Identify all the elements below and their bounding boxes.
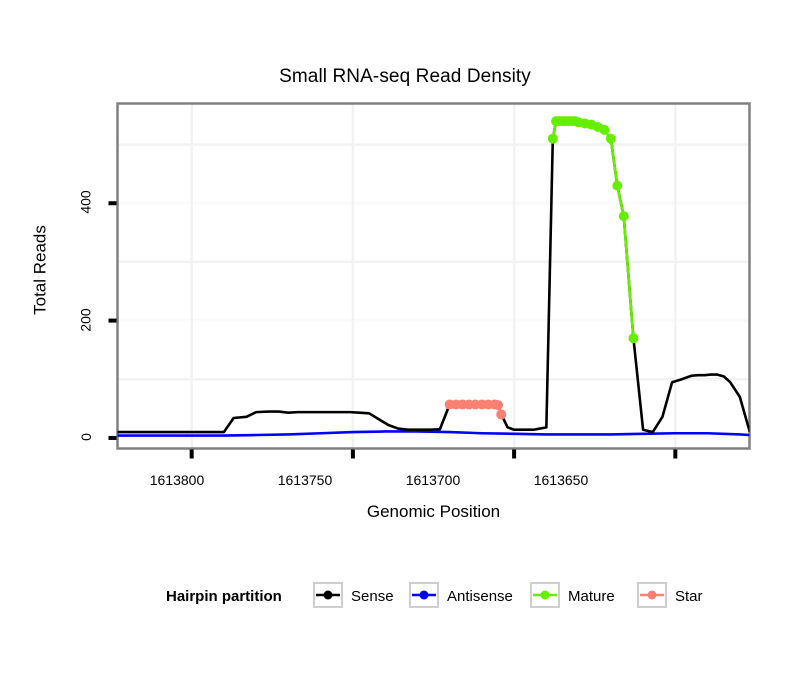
- legend-glyph-star: [639, 584, 665, 606]
- legend-key-star[interactable]: [637, 582, 667, 608]
- legend-key-antisense[interactable]: [409, 582, 439, 608]
- legend-key-mature[interactable]: [530, 582, 560, 608]
- grid-layer: [118, 104, 750, 449]
- legend-label-sense: Sense: [351, 588, 394, 605]
- legend-key-sense[interactable]: [313, 582, 343, 608]
- legend-label-antisense: Antisense: [447, 588, 513, 605]
- chart-figure: Small RNA-seq Read Density Total Reads G…: [0, 0, 810, 690]
- legend-glyph-mature: [532, 584, 558, 606]
- legend-label-star: Star: [675, 588, 703, 605]
- legend-title: Hairpin partition: [166, 588, 282, 605]
- plot-area: [0, 0, 810, 690]
- legend-glyph-antisense: [411, 584, 437, 606]
- legend-label-mature: Mature: [568, 588, 615, 605]
- legend-glyph-sense: [315, 584, 341, 606]
